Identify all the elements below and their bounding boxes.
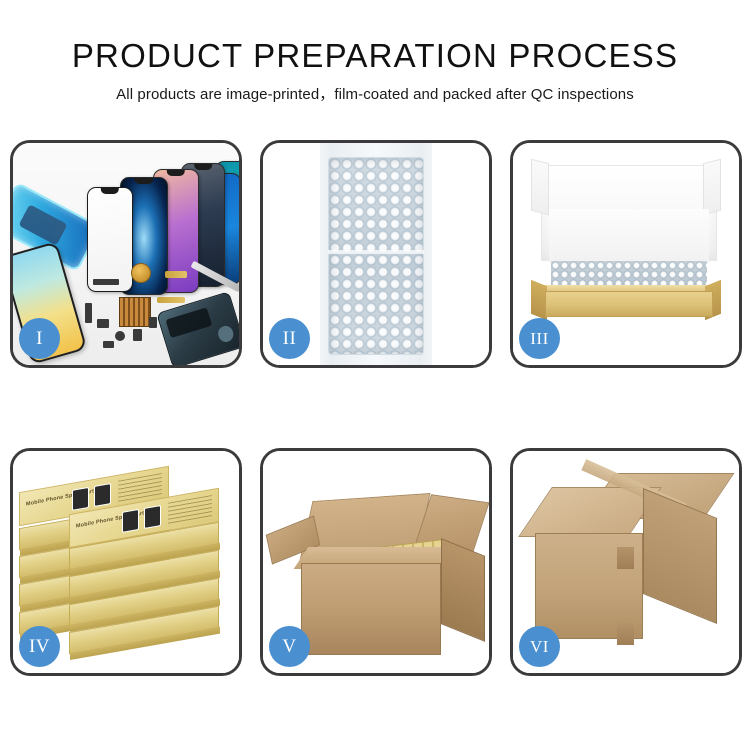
process-step-panel-3: III xyxy=(510,140,742,368)
carton-cut-tab xyxy=(617,547,634,569)
box-art-screen-icon xyxy=(94,483,111,507)
step-badge-5: V xyxy=(269,626,310,667)
process-step-panel-5: V xyxy=(260,448,492,676)
process-step-panel-4: Mobile Phone Spare Parts Mobile Phone Sp… xyxy=(10,448,242,676)
part-chip-icon xyxy=(149,317,157,328)
page-header: PRODUCT PREPARATION PROCESS All products… xyxy=(0,0,750,105)
carton-side-right xyxy=(441,538,485,642)
process-step-panel-1: I xyxy=(10,140,242,368)
part-chip-icon xyxy=(85,303,92,323)
process-step-panel-2: II xyxy=(260,140,492,368)
page-subtitle: All products are image-printed，film-coat… xyxy=(0,85,750,105)
part-chip-icon xyxy=(93,279,119,285)
inner-box-front xyxy=(545,291,713,317)
part-gridchip-icon xyxy=(119,297,151,327)
part-chip-icon xyxy=(133,329,142,341)
tweezer-icon xyxy=(191,261,239,293)
inner-box-lid-flap-left xyxy=(531,159,549,215)
part-flex-cable-icon xyxy=(165,271,187,278)
step-badge-2: II xyxy=(269,318,310,359)
notch-icon xyxy=(194,164,212,170)
step-badge-3: III xyxy=(519,318,560,359)
box-art-screen-icon xyxy=(122,509,139,533)
box-spec-lines xyxy=(168,495,212,527)
bubble-wrapped-product xyxy=(328,157,424,355)
notch-icon xyxy=(101,188,119,194)
part-flex-cable-icon xyxy=(157,297,185,303)
step-badge-6: VI xyxy=(519,626,560,667)
inner-box-lid-flap-right xyxy=(703,159,721,215)
carton-front xyxy=(301,563,441,655)
part-chip-icon xyxy=(103,341,114,348)
product-preparation-page: PRODUCT PREPARATION PROCESS All products… xyxy=(0,0,750,750)
part-chip-icon xyxy=(97,319,109,328)
step-badge-4: IV xyxy=(19,626,60,667)
carton-cut-tab xyxy=(617,623,634,645)
box-art-screen-icon xyxy=(144,505,161,529)
bubble-wrap-seam xyxy=(328,250,424,254)
notch-icon xyxy=(134,178,153,184)
notch-icon xyxy=(167,170,185,176)
part-coil-icon xyxy=(131,263,151,283)
foam-sheet xyxy=(549,209,709,263)
page-title: PRODUCT PREPARATION PROCESS xyxy=(0,36,750,76)
part-button-icon xyxy=(115,331,125,341)
spare-parts-group xyxy=(79,257,239,361)
process-step-panel-6: VI xyxy=(510,448,742,676)
box-art-screen-icon xyxy=(72,487,89,511)
process-steps-grid: I II xyxy=(10,140,742,676)
step-badge-1: I xyxy=(19,318,60,359)
